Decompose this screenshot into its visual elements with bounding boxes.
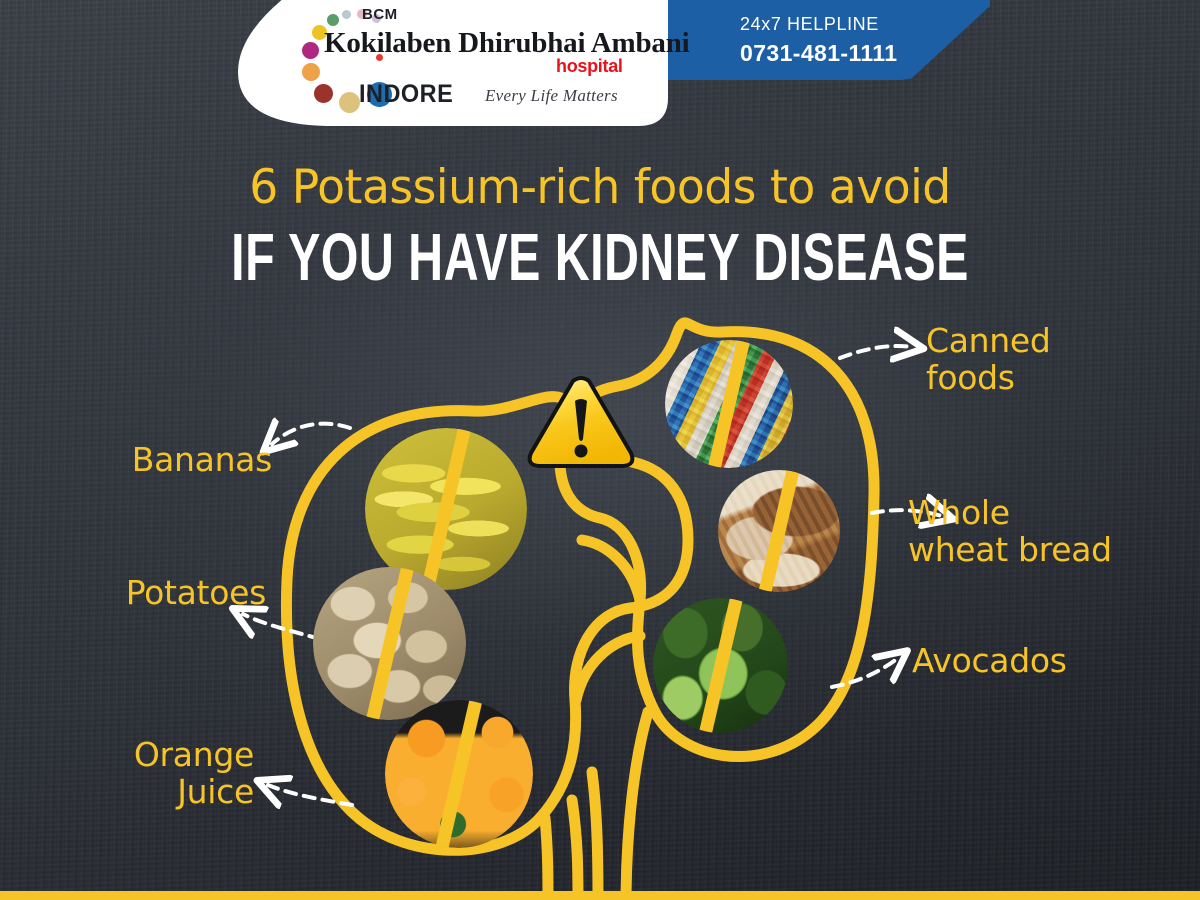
hospital-tagline: Every Life Matters [485,86,618,106]
food-circle-bananas[interactable] [365,428,527,590]
connector-orange-juice [268,785,352,805]
label-whole-wheat-bread: Whole wheat bread [908,494,1198,568]
label-bananas: Bananas [0,441,272,478]
bcm-label: BCM [362,6,398,23]
helpline-label: 24x7 HELPLINE [740,14,879,35]
warning-triangle-icon [525,373,637,473]
food-circle-potatoes[interactable] [313,567,466,720]
helpline-number[interactable]: 0731-481-1111 [740,40,897,67]
food-circle-canned-foods[interactable] [665,340,793,468]
connector-avocados [832,658,898,687]
footer-accent-bar [0,891,1200,900]
connector-canned-foods [840,346,912,358]
food-circle-orange-juice[interactable] [385,700,533,848]
label-canned-foods: Canned foods [926,322,1186,396]
hospital-city: INDORE [359,80,453,109]
headline-line-2: IF YOU HAVE KIDNEY DISEASE [72,218,1128,296]
hospital-name: Kokilaben Dhirubhai Ambani [324,27,690,60]
food-circle-avocados[interactable] [653,598,788,733]
headline-line-1: 6 Potassium-rich foods to avoid [18,160,1182,215]
connector-potatoes [243,614,320,639]
infographic-poster: Bananas Potatoes Orange Juice Canned foo… [0,0,1200,900]
food-circle-whole-wheat-bread[interactable] [718,470,840,592]
label-potatoes: Potatoes [0,574,266,611]
hospital-word: hospital [556,56,623,77]
connector-bananas [272,424,350,444]
label-avocados: Avocados [912,642,1192,679]
label-orange-juice: Orange Juice [0,736,254,810]
